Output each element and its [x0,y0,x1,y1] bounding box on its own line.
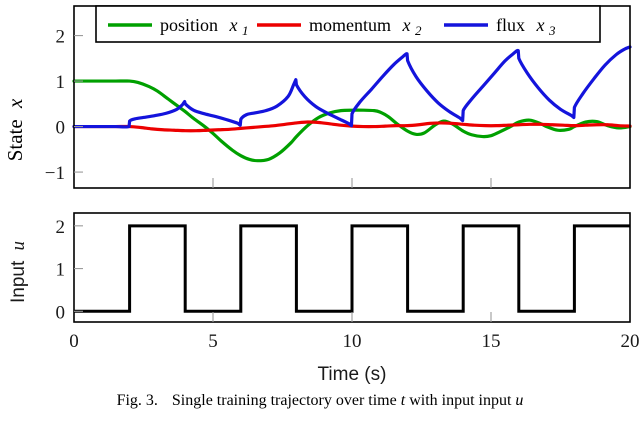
x-tick-label: 5 [208,331,218,352]
time-axis-label: Time (s) [318,364,387,385]
legend: position x 1 momentum x 2 flux x 3 [96,6,600,42]
legend-label-momentum: momentum x 2 [309,15,422,38]
input-panel: 012 05101520 Input u Time (s) [8,213,640,385]
state-x-tick-group [213,178,491,188]
input-x-tick-group: 05101520 [69,312,639,352]
input-series-group [74,226,630,311]
y-tick-label: 2 [56,217,66,238]
figure-plot-area: −1012 State x position x 1 momentum x [0,0,640,392]
state-series-group [74,47,630,161]
series-input [74,226,630,311]
y-tick-label: 1 [56,72,66,93]
figure-caption: Fig. 3.Single training trajectory over t… [0,392,640,410]
input-axis-label: Input u [8,241,29,303]
figure-3: −1012 State x position x 1 momentum x [0,0,640,423]
x-tick-label: 20 [621,331,640,352]
y-tick-label: 2 [56,27,66,48]
state-panel: −1012 State x position x 1 momentum x [3,6,630,188]
y-tick-label: 0 [56,302,66,323]
caption-part-2: with input input [409,392,511,409]
x-tick-label: 15 [482,331,501,352]
figure-number: Fig. 3. [117,392,158,409]
y-tick-label: −1 [45,163,65,184]
state-y-tick-group: −1012 [45,27,83,185]
series-flux [74,47,630,127]
state-axis-label: State x [3,98,27,161]
x-tick-label: 10 [343,331,362,352]
y-tick-label: 1 [56,260,66,281]
legend-label-position: position x 1 [160,15,249,38]
caption-part-1: Single training trajectory over time [172,392,397,409]
x-tick-label: 0 [69,331,79,352]
y-tick-label: 0 [56,118,66,139]
input-y-tick-group: 012 [56,217,84,323]
caption-var-u: u [515,392,523,409]
caption-var-t: t [401,392,405,409]
legend-label-flux: flux x 3 [496,15,556,38]
